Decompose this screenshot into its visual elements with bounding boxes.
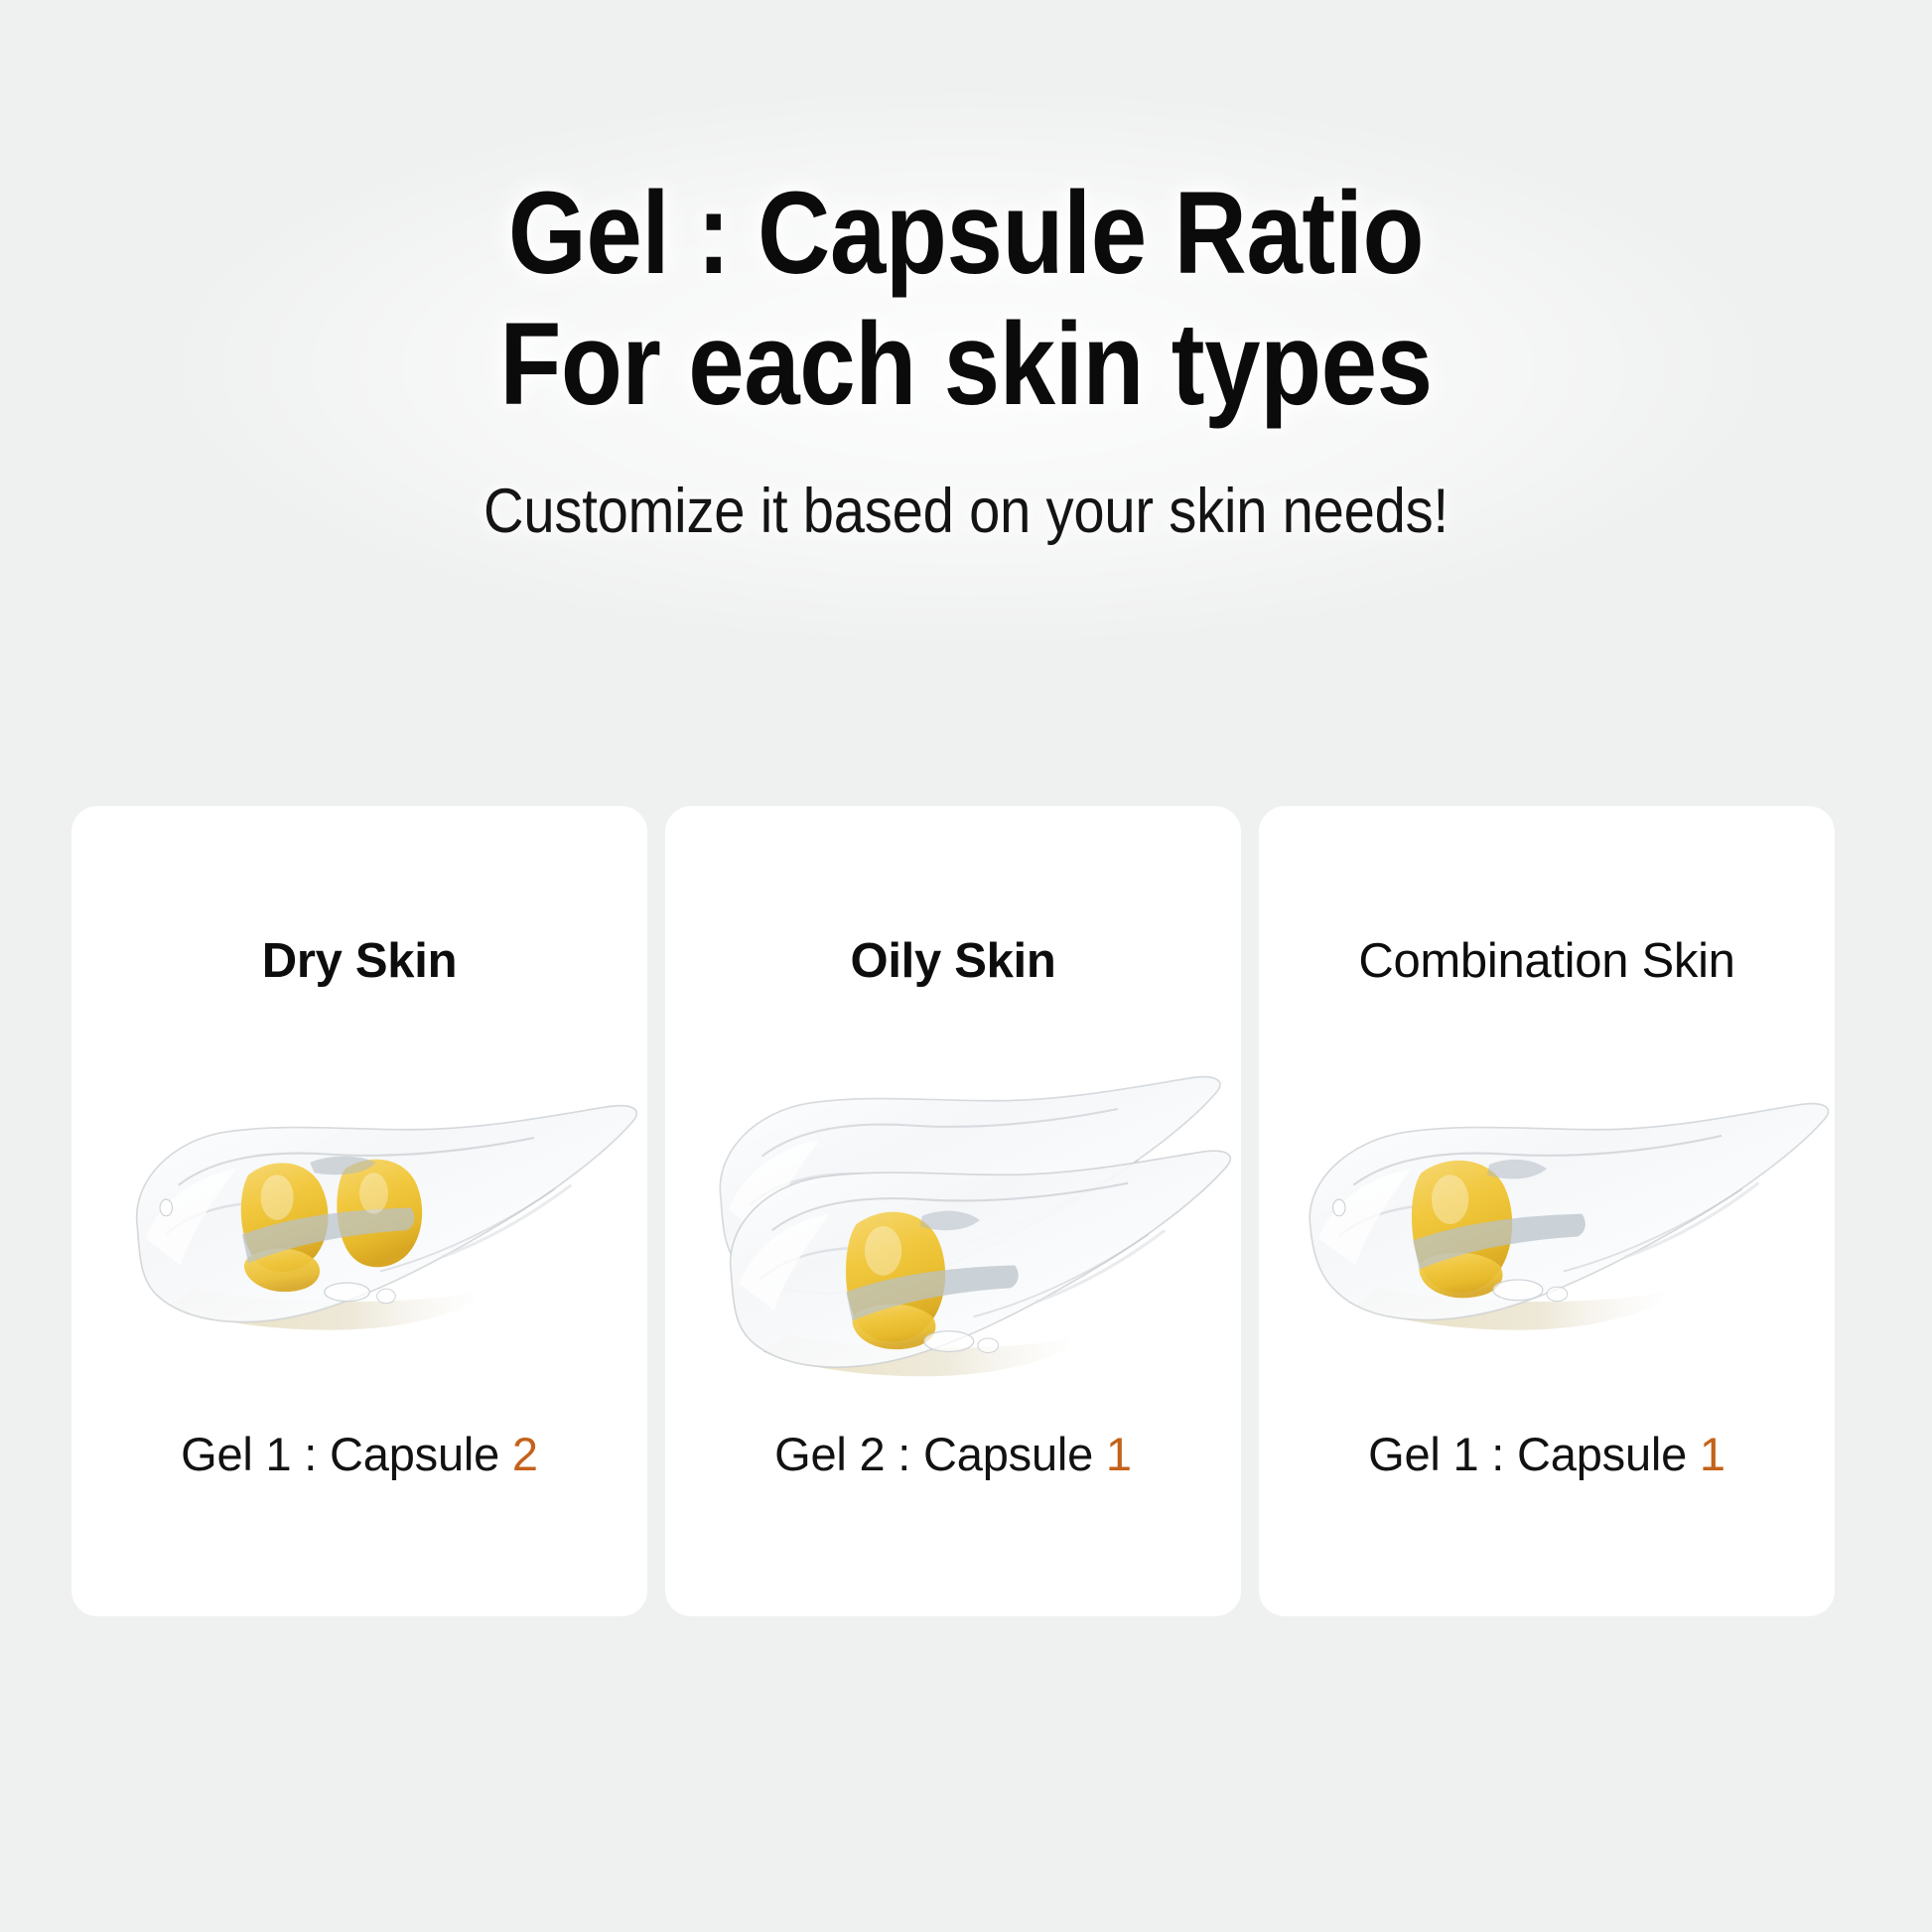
card-ratio-label: Gel 1 : Capsule 1 [1259,1427,1835,1481]
card-title: Dry Skin [71,933,647,989]
card-ratio-label: Gel 2 : Capsule 1 [665,1427,1241,1481]
skin-type-card[interactable]: Combination Skin [1259,806,1835,1616]
gel-smear-two-capsules-icon [71,1044,647,1402]
card-ratio-value: 1 [1700,1428,1725,1480]
card-ratio-prefix: Gel 2 : Capsule [774,1428,1106,1480]
page-subtitle: Customize it based on your skin needs! [106,475,1826,550]
page-title-line-2: For each skin types [135,298,1797,432]
card-ratio-prefix: Gel 1 : Capsule [181,1428,512,1480]
page-title-line-1: Gel : Capsule Ratio [135,167,1797,301]
gel-capsule-ratio-infographic: Gel : Capsule Ratio For each skin types … [0,0,1932,1932]
skin-type-card[interactable]: Dry Skin [71,806,647,1616]
double-gel-smear-one-capsule-icon [665,1044,1241,1402]
card-ratio-value: 1 [1106,1428,1132,1480]
gel-smear-one-capsule-icon [1259,1044,1835,1402]
card-title: Oily Skin [665,933,1241,989]
card-ratio-label: Gel 1 : Capsule 2 [71,1427,647,1481]
card-ratio-prefix: Gel 1 : Capsule [1368,1428,1700,1480]
skin-type-card[interactable]: Oily Skin [665,806,1241,1616]
skin-type-card-row: Dry Skin [71,806,1835,1616]
card-ratio-value: 2 [512,1428,538,1480]
card-title: Combination Skin [1259,933,1835,989]
